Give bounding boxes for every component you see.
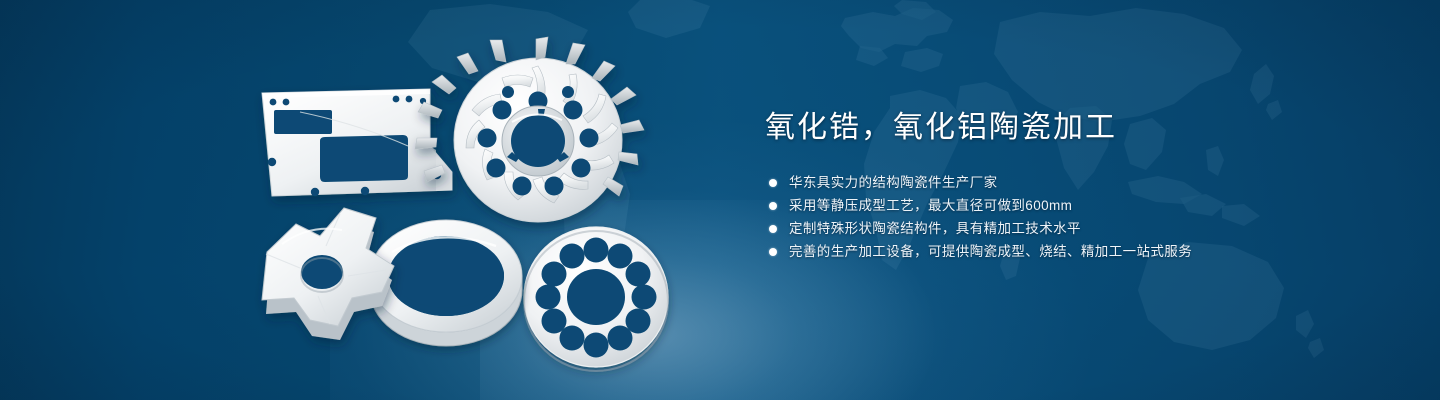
bullet-dot-icon [769,248,777,256]
feature-list: 华东具实力的结构陶瓷件生产厂家 采用等静压成型工艺，最大直径可做到600mm 定… [769,174,1385,260]
promo-banner: 氧化锆，氧化铝陶瓷加工 华东具实力的结构陶瓷件生产厂家 采用等静压成型工艺，最大… [0,0,1440,400]
list-item-label: 定制特殊形状陶瓷结构件，具有精加工技术水平 [789,220,1081,237]
page-title: 氧化锆，氧化铝陶瓷加工 [765,108,1385,148]
banner-copy: 氧化锆，氧化铝陶瓷加工 华东具实力的结构陶瓷件生产厂家 采用等静压成型工艺，最大… [765,108,1385,266]
list-item: 定制特殊形状陶瓷结构件，具有精加工技术水平 [769,220,1385,237]
list-item: 完善的生产加工设备，可提供陶瓷成型、烧结、精加工一站式服务 [769,243,1385,260]
bullet-dot-icon [769,225,777,233]
list-item: 华东具实力的结构陶瓷件生产厂家 [769,174,1385,191]
list-item: 采用等静压成型工艺，最大直径可做到600mm [769,197,1385,214]
bullet-dot-icon [769,179,777,187]
list-item-label: 完善的生产加工设备，可提供陶瓷成型、烧结、精加工一站式服务 [789,243,1192,260]
bullet-dot-icon [769,202,777,210]
list-item-label: 华东具实力的结构陶瓷件生产厂家 [789,174,998,191]
list-item-label: 采用等静压成型工艺，最大直径可做到600mm [789,197,1072,214]
